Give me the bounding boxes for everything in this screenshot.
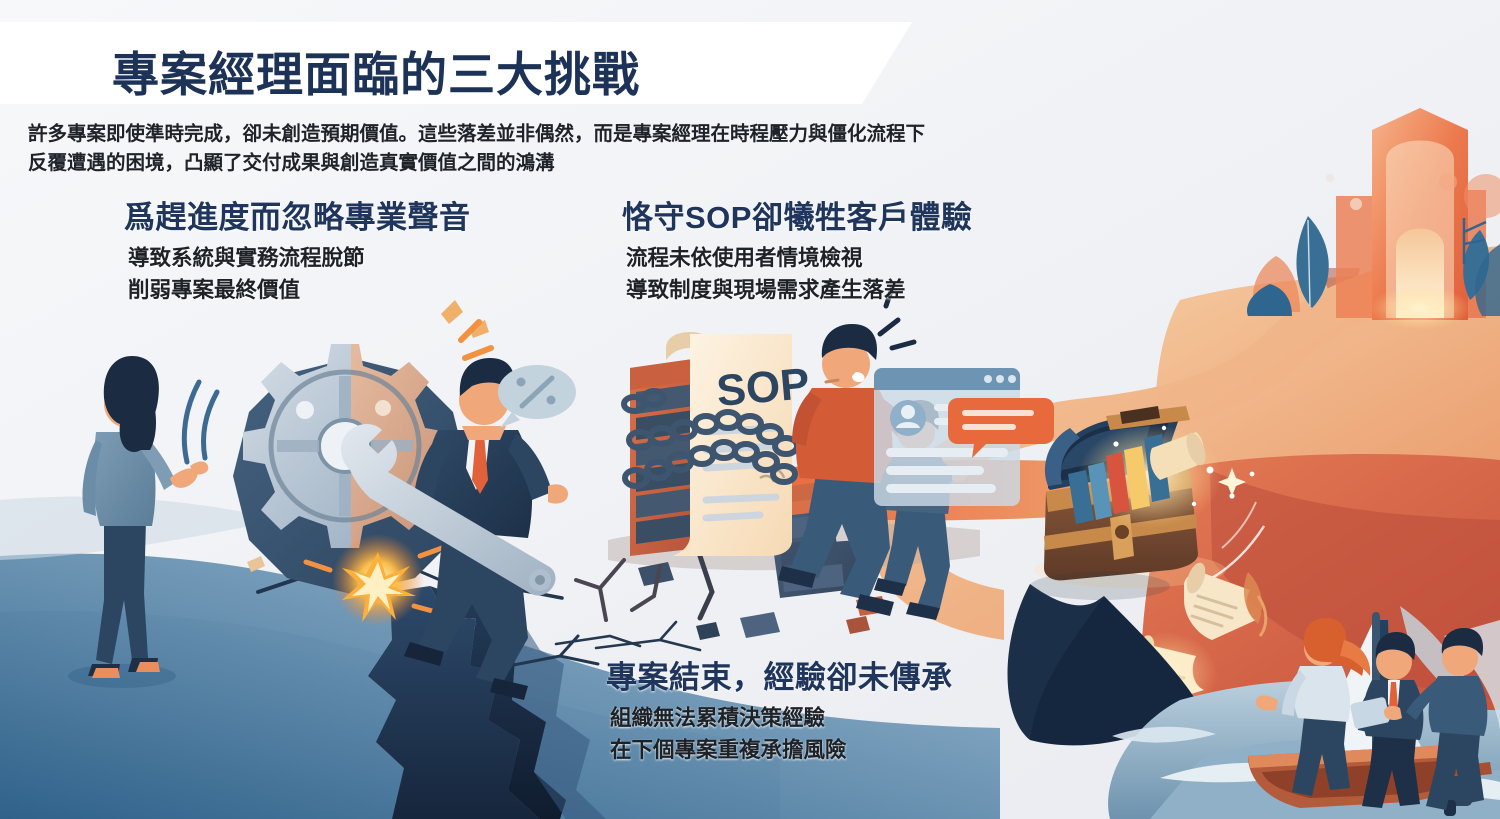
challenge-block-2: 恪守SOP卻犧牲客戶體驗 流程未依使用者情境檢視 導致制度與現場需求產生落差: [622, 198, 972, 306]
intro-line-1: 許多專案即使準時完成，卻未創造預期價值。這些落差並非偶然，而是專案經理在時程壓力…: [28, 120, 1058, 149]
challenge-1-heading: 爲趕進度而忽略專業聲音: [124, 198, 471, 238]
challenge-2-heading: 恪守SOP卻犧牲客戶體驗: [622, 198, 972, 238]
challenge-3-lines: 組織無法累積決策經驗 在下個專案重複承擔風險: [606, 702, 953, 766]
infographic-canvas: SOP: [0, 0, 1500, 819]
challenge-2-line-2: 導致制度與現場需求產生落差: [626, 274, 972, 306]
challenge-3-line-1: 組織無法累積決策經驗: [610, 702, 953, 734]
challenge-2-lines: 流程未依使用者情境檢視 導致制度與現場需求產生落差: [622, 242, 972, 306]
challenge-1-lines: 導致系統與實務流程脫節 削弱專案最終價值: [124, 242, 471, 306]
intro-paragraph: 許多專案即使準時完成，卻未創造預期價值。這些落差並非偶然，而是專案經理在時程壓力…: [28, 120, 1058, 178]
page-title: 專案經理面臨的三大挑戰: [112, 46, 640, 104]
challenge-2-line-1: 流程未依使用者情境檢視: [626, 242, 972, 274]
sop-label: SOP: [715, 359, 812, 416]
challenge-1-line-1: 導致系統與實務流程脫節: [128, 242, 471, 274]
challenge-block-1: 爲趕進度而忽略專業聲音 導致系統與實務流程脫節 削弱專案最終價值: [124, 198, 471, 306]
intro-line-2: 反覆遭遇的困境，凸顯了交付成果與創造真實價值之間的鴻溝: [28, 149, 1058, 178]
challenge-3-heading: 專案結束，經驗卻未傳承: [606, 658, 953, 698]
title-banner: 專案經理面臨的三大挑戰: [0, 22, 912, 104]
challenge-1-line-2: 削弱專案最終價值: [128, 274, 471, 306]
challenge-3-line-2: 在下個專案重複承擔風險: [610, 734, 953, 766]
challenge-block-3: 專案結束，經驗卻未傳承 組織無法累積決策經驗 在下個專案重複承擔風險: [606, 658, 953, 766]
